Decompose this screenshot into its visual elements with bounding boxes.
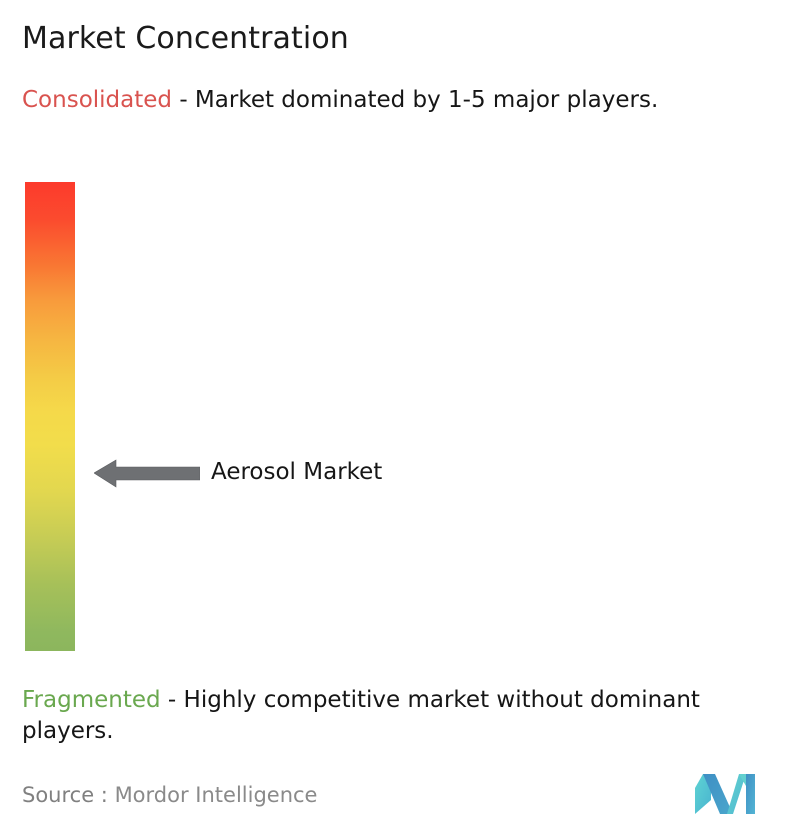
- source-value: Mordor Intelligence: [115, 783, 318, 807]
- left-arrow-icon: [94, 460, 200, 487]
- source-attribution: Source : Mordor Intelligence: [22, 781, 317, 809]
- mordor-intelligence-logo-icon: [693, 772, 765, 816]
- source-label: Source :: [22, 783, 115, 807]
- legend-consolidated-description: - Market dominated by 1-5 major players.: [172, 87, 658, 113]
- legend-fragmented-keyword: Fragmented: [22, 687, 161, 713]
- legend-consolidated-keyword: Consolidated: [22, 87, 172, 113]
- marker-arrow: [94, 458, 200, 488]
- legend-fragmented: Fragmented - Highly competitive market w…: [22, 685, 784, 747]
- market-concentration-figure: Market Concentration Consolidated - Mark…: [0, 0, 796, 834]
- legend-consolidated: Consolidated - Market dominated by 1-5 m…: [22, 85, 774, 116]
- marker-label: Aerosol Market: [211, 457, 382, 487]
- page-title: Market Concentration: [22, 20, 349, 58]
- concentration-gradient-bar: [25, 182, 75, 651]
